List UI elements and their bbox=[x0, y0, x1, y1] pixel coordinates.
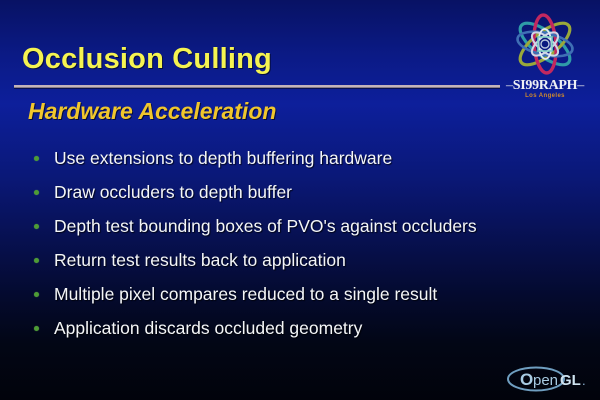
bullet-dot-icon bbox=[34, 258, 39, 263]
bullet-dot-icon bbox=[34, 156, 39, 161]
list-item: Use extensions to depth buffering hardwa… bbox=[30, 141, 575, 175]
bullet-dot-icon bbox=[34, 224, 39, 229]
bullet-list: Use extensions to depth buffering hardwa… bbox=[30, 141, 575, 345]
list-item-label: Draw occluders to depth buffer bbox=[54, 182, 292, 203]
list-item-label: Application discards occluded geometry bbox=[54, 318, 362, 339]
list-item: Application discards occluded geometry bbox=[30, 311, 575, 345]
list-item: Depth test bounding boxes of PVO's again… bbox=[30, 209, 575, 243]
bullet-dot-icon bbox=[34, 326, 39, 331]
list-item: Multiple pixel compares reduced to a sin… bbox=[30, 277, 575, 311]
svg-text:GL: GL bbox=[560, 372, 581, 389]
bullet-dot-icon bbox=[34, 292, 39, 297]
siggraph-logo: –SI99RAPH– Los Angeles bbox=[495, 8, 595, 104]
list-item: Return test results back to application bbox=[30, 243, 575, 277]
list-item-label: Multiple pixel compares reduced to a sin… bbox=[54, 284, 437, 305]
wordmark-text: SI99RAPH bbox=[513, 78, 578, 93]
wordmark-dash-right: – bbox=[577, 78, 584, 93]
slide-subtitle: Hardware Acceleration bbox=[28, 98, 276, 125]
list-item-label: Depth test bounding boxes of PVO's again… bbox=[54, 216, 477, 237]
siggraph-city-label: Los Angeles bbox=[495, 93, 595, 99]
opengl-wordmark-icon: O pen GL . bbox=[506, 364, 592, 394]
list-item-label: Return test results back to application bbox=[54, 250, 346, 271]
svg-text:O: O bbox=[520, 370, 533, 389]
list-item: Draw occluders to depth buffer bbox=[30, 175, 575, 209]
title-divider-shadow bbox=[14, 88, 500, 89]
page-title: Occlusion Culling bbox=[22, 43, 272, 76]
svg-text:.: . bbox=[582, 373, 586, 388]
bullet-dot-icon bbox=[34, 190, 39, 195]
presentation-slide: Occlusion Culling Hardware Acceleration … bbox=[0, 0, 600, 400]
siggraph-wordmark: –SI99RAPH– bbox=[495, 78, 595, 94]
opengl-logo: O pen GL . bbox=[506, 364, 592, 394]
svg-text:pen: pen bbox=[533, 372, 558, 389]
siggraph-rings-icon bbox=[495, 8, 595, 80]
wordmark-dash-left: – bbox=[506, 78, 513, 93]
list-item-label: Use extensions to depth buffering hardwa… bbox=[54, 148, 392, 169]
